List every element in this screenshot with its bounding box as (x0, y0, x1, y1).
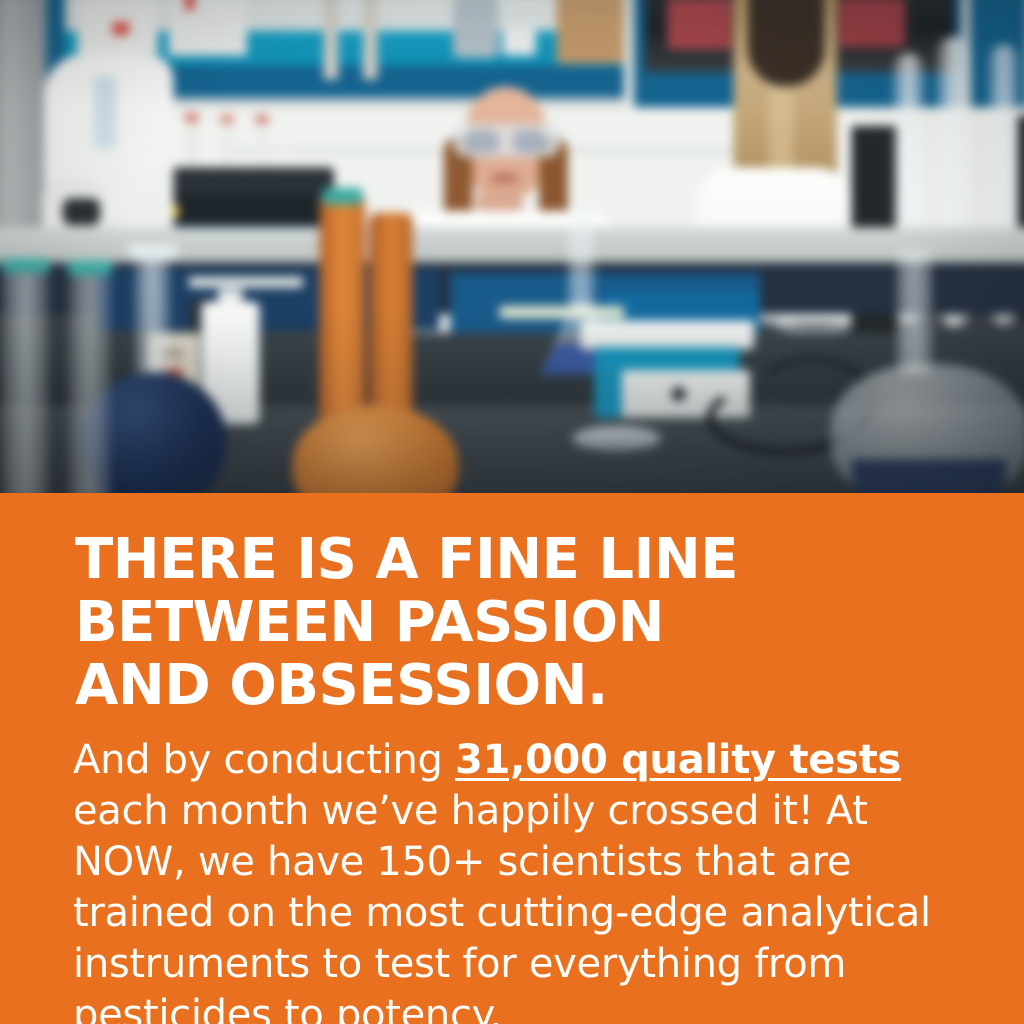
cabinet-vial-b (363, 0, 377, 79)
blonde-scientist-head (748, 0, 825, 87)
body-copy-lead: And by conducting (73, 737, 455, 783)
lower-cabinet-label-a (189, 277, 303, 287)
clear-flask-neck-right (897, 250, 932, 374)
scientist-mouth (491, 174, 518, 183)
goggle-lens-left (464, 130, 499, 153)
lower-cabinet-label-b (500, 306, 624, 318)
goggle-lens-right (512, 130, 547, 153)
test-tube-cap-a (185, 114, 198, 122)
background-scientist-badge (94, 76, 117, 148)
test-tube-cap-c (255, 116, 268, 123)
blue-flask-neck (135, 248, 170, 383)
lab-photo: 500 (0, 0, 1024, 493)
test-tube-c (222, 116, 233, 168)
erlenmeyer-neck-center (568, 211, 595, 306)
balance-blue-panel (595, 370, 622, 418)
cabinet-divider-mid (624, 0, 634, 116)
test-tube-d (257, 116, 268, 168)
test-tube-cap-b (220, 116, 233, 123)
test-tube-e (280, 110, 287, 167)
petri-dish (572, 426, 661, 451)
cabinet-vial-a (324, 0, 338, 79)
photo-blur-layer: 500 (0, 0, 1024, 493)
cabinet-carton (557, 0, 632, 64)
cabinet-red-item-a (667, 0, 731, 49)
social-graphic: 500 THERE IS A FINE LINE BETWEEN PASSION… (0, 0, 1024, 1024)
cabinet-label-red-b (185, 0, 194, 10)
cabinet-red-item-c (839, 0, 905, 47)
cabinet-box-b (168, 0, 247, 56)
background-scientist-hand (63, 198, 100, 225)
cabinet-label-red-a (112, 22, 129, 34)
graduated-cylinder-b (69, 258, 110, 493)
amber-cylinder-cap (322, 188, 363, 205)
graduated-cylinder-a (3, 256, 49, 493)
body-copy: And by conducting 31,000 quality tests e… (73, 735, 953, 1024)
body-copy-rest: each month we’ve happily crossed it! At … (73, 788, 931, 1024)
cabinet-jar-small (503, 27, 536, 56)
graduated-cylinder-cap-b (67, 260, 113, 274)
clear-flask-blue-liquid (851, 459, 1006, 493)
graduated-cylinder-cap-a (1, 258, 51, 272)
balance-platform (580, 321, 754, 350)
solvent-bottle-cap (218, 289, 243, 306)
balance-knob (671, 387, 685, 401)
cabinet-jar (453, 0, 499, 58)
headline: THERE IS A FINE LINE BETWEEN PASSION AND… (75, 528, 975, 717)
flask-volume-label: 500 (96, 457, 220, 493)
quality-tests-highlight: 31,000 quality tests (455, 737, 901, 783)
